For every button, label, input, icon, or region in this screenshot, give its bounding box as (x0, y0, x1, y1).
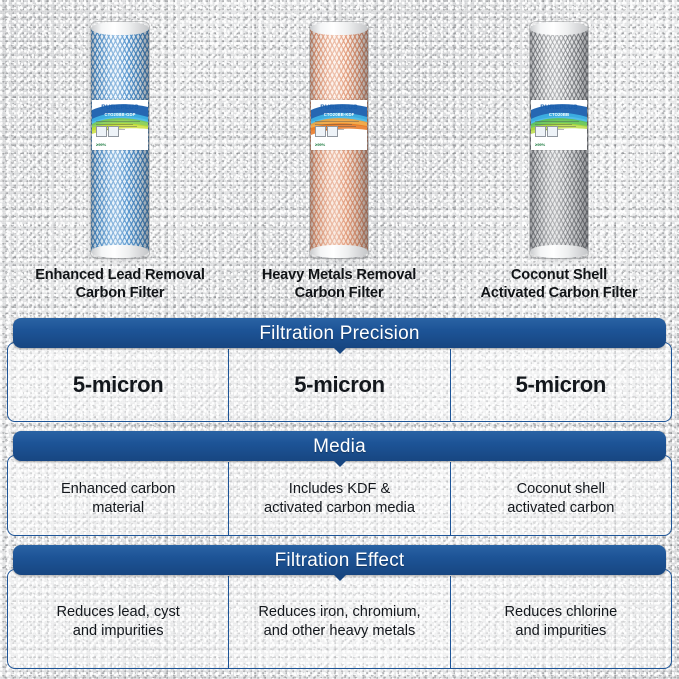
table-cell: Coconut shell activated carbon (450, 462, 671, 535)
table-row: Reduces lead, cyst and impurities Reduce… (7, 569, 672, 669)
table-section-filtration-effect: Filtration Effect Reduces lead, cyst and… (7, 545, 672, 669)
cartridge-end-cap-top (530, 22, 588, 35)
filter-cartridge-3: PUREPLUS CTO20BB ≥99% (530, 22, 588, 258)
table-row: 5-micron 5-micron 5-micron (7, 342, 672, 422)
section-header-label: Filtration Effect (275, 551, 405, 570)
product-caption-2: Heavy Metals Removal Carbon Filter (226, 266, 452, 302)
caption-line-1: Heavy Metals Removal (262, 267, 416, 283)
section-header-banner: Media (13, 431, 666, 461)
label-model-code: CTO20BB-KDF (311, 113, 367, 117)
table-cell: Reduces iron, chromium, and other heavy … (228, 576, 449, 668)
caption-line-1: Coconut Shell (511, 267, 607, 283)
table-cell: 5-micron (228, 349, 449, 421)
table-cell: Reduces chlorine and impurities (450, 576, 671, 668)
cartridge-end-cap-bottom (310, 245, 368, 258)
label-icon-box-1 (315, 126, 326, 137)
section-header-label: Filtration Precision (259, 324, 419, 343)
product-label-1: PUREPLUS CTO20BB-GDP ≥99% (92, 100, 148, 150)
table-section-filtration-precision: Filtration Precision 5-micron 5-micron 5… (7, 318, 672, 422)
filter-cartridge-2: PUREPLUS CTO20BB-KDF ≥99% (310, 22, 368, 258)
section-header-banner: Filtration Effect (13, 545, 666, 575)
table-cell: 5-micron (8, 349, 228, 421)
filter-cartridge-1: PUREPLUS CTO20BB-GDP ≥99% (91, 22, 149, 258)
cell-text: Includes KDF & activated carbon media (264, 480, 415, 518)
product-label-2: PUREPLUS CTO20BB-KDF ≥99% (311, 100, 367, 150)
label-brand-text: PUREPLUS (101, 104, 139, 111)
cell-line-1: Reduces lead, cyst (57, 604, 180, 620)
label-brand: PUREPLUS (311, 105, 367, 112)
cartridge-end-cap-bottom (530, 245, 588, 258)
cell-line-2: activated carbon (507, 500, 614, 516)
label-model-code: CTO20BB (531, 113, 587, 117)
caption-line-1: Enhanced Lead Removal (35, 267, 205, 283)
product-gallery: PUREPLUS CTO20BB-GDP ≥99% Enhanced Lead … (0, 0, 679, 312)
table-section-media: Media Enhanced carbon material Includes … (7, 431, 672, 536)
label-brand-text: PUREPLUS (540, 104, 578, 111)
cartridge-end-cap-bottom (91, 245, 149, 258)
cell-text: Coconut shell activated carbon (507, 480, 614, 518)
product-caption-1: Enhanced Lead Removal Carbon Filter (7, 266, 233, 302)
label-icon-box-1 (535, 126, 546, 137)
label-icon-box-1 (96, 126, 107, 137)
cell-text: Reduces chlorine and impurities (504, 603, 617, 641)
caption-line-2: Carbon Filter (76, 285, 165, 301)
section-header-label: Media (313, 437, 366, 456)
label-brand-text: PUREPLUS (320, 104, 358, 111)
label-percent: ≥99% (96, 143, 106, 147)
section-spacer (7, 422, 672, 431)
cell-text: Reduces iron, chromium, and other heavy … (258, 603, 420, 641)
label-brand: PUREPLUS (92, 105, 148, 112)
cell-line-1: Reduces chlorine (504, 604, 617, 620)
label-model-code: CTO20BB-GDP (92, 113, 148, 117)
label-percent: ≥99% (315, 143, 325, 147)
label-icon-box-2 (327, 126, 338, 137)
section-spacer (7, 536, 672, 545)
cartridge-end-cap-top (91, 22, 149, 35)
label-icon-box-2 (547, 126, 558, 137)
label-icon-box-2 (108, 126, 119, 137)
label-brand: PUREPLUS (531, 105, 587, 112)
cell-line-1: Reduces iron, chromium, (258, 604, 420, 620)
comparison-table: Filtration Precision 5-micron 5-micron 5… (7, 318, 672, 669)
table-cell: Reduces lead, cyst and impurities (8, 576, 228, 668)
cell-text: 5-micron (73, 375, 164, 395)
table-row: Enhanced carbon material Includes KDF & … (7, 455, 672, 536)
table-cell: Enhanced carbon material (8, 462, 228, 535)
table-cell: 5-micron (450, 349, 671, 421)
table-cell: Includes KDF & activated carbon media (228, 462, 449, 535)
cell-line-2: and impurities (515, 623, 606, 639)
product-card-2[interactable]: PUREPLUS CTO20BB-KDF ≥99% Heavy Metals R… (226, 0, 452, 312)
cell-text: 5-micron (516, 375, 607, 395)
cell-line-1: Coconut shell (517, 481, 605, 497)
product-card-1[interactable]: PUREPLUS CTO20BB-GDP ≥99% Enhanced Lead … (7, 0, 233, 312)
section-header-banner: Filtration Precision (13, 318, 666, 348)
cell-text: Enhanced carbon material (61, 480, 175, 518)
cell-line-2: and other heavy metals (264, 623, 416, 639)
cell-text: Reduces lead, cyst and impurities (57, 603, 180, 641)
cell-line-1: Enhanced carbon (61, 481, 175, 497)
caption-line-2: Carbon Filter (295, 285, 384, 301)
cell-text: 5-micron (294, 375, 385, 395)
label-percent: ≥99% (535, 143, 545, 147)
product-card-3[interactable]: PUREPLUS CTO20BB ≥99% Coconut Shell (446, 0, 672, 312)
cell-line-2: material (92, 500, 144, 516)
product-label-3: PUREPLUS CTO20BB ≥99% (531, 100, 587, 150)
cell-line-2: activated carbon media (264, 500, 415, 516)
cell-line-1: Includes KDF & (289, 481, 390, 497)
product-caption-3: Coconut Shell Activated Carbon Filter (446, 266, 672, 302)
cartridge-end-cap-top (310, 22, 368, 35)
cell-line-2: and impurities (73, 623, 164, 639)
caption-line-2: Activated Carbon Filter (480, 285, 637, 301)
